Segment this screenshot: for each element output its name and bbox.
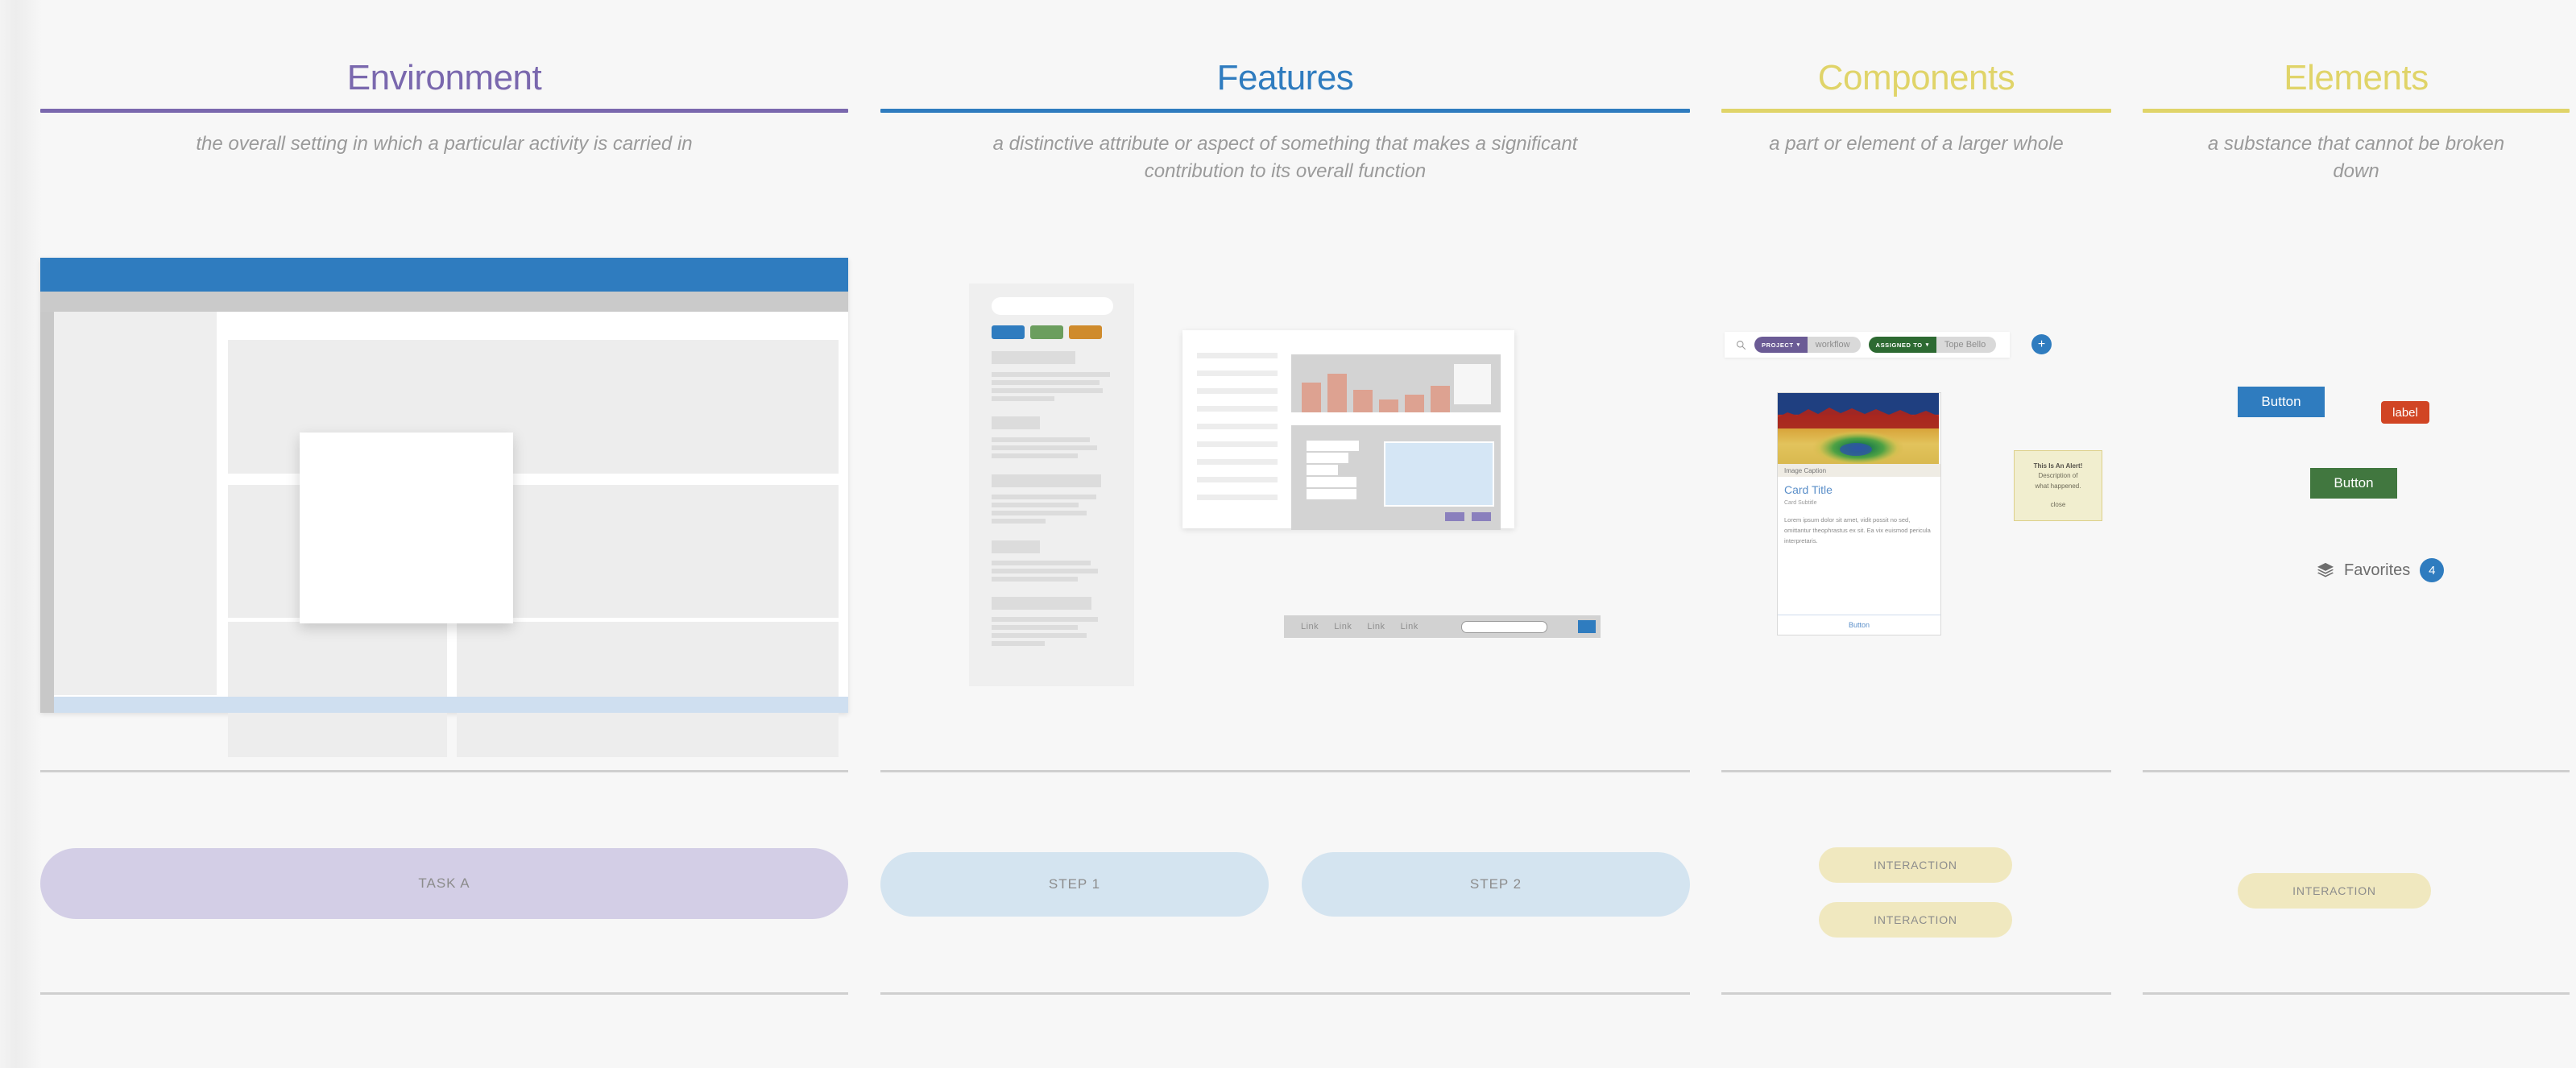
mock-modal-dialog (300, 433, 513, 623)
mock-column-right (457, 622, 839, 757)
column-rule (1721, 109, 2111, 113)
page-left-edge-shadow (0, 0, 42, 1068)
alert-line-1: Description of (2015, 471, 2102, 481)
mock-tab-1[interactable] (992, 325, 1025, 339)
mock-text-block (992, 540, 1040, 553)
column-title: Features (880, 60, 1690, 96)
section-divider (1721, 992, 2111, 995)
section-divider (40, 992, 848, 995)
favorites-count-badge: 4 (2420, 558, 2444, 582)
browser-content-area (54, 312, 848, 713)
mock-tab-3[interactable] (1069, 325, 1102, 339)
column-title: Environment (40, 60, 848, 96)
interaction-pill[interactable]: INTERACTION (1819, 847, 2012, 883)
mock-heading-bar (992, 597, 1091, 610)
dashboard-mockup (1182, 330, 1514, 528)
mock-column-left (228, 622, 447, 757)
mock-paragraph (992, 495, 1096, 527)
mock-footer-bar (54, 697, 848, 713)
filter-chip-key-label: ASSIGNED TO (1876, 342, 1923, 349)
link-item[interactable]: Link (1301, 622, 1319, 631)
filter-chip-project[interactable]: PROJECT ▾ workflow (1754, 337, 1861, 353)
card-subtitle: Card Subtitle (1784, 500, 1816, 506)
mock-bar (1302, 383, 1321, 412)
mock-search-field[interactable] (992, 297, 1113, 315)
toolbar-search-input[interactable] (1461, 621, 1547, 633)
mock-text-block (992, 597, 1091, 610)
favorites-label: Favorites (2344, 561, 2410, 580)
column-rule (2143, 109, 2570, 113)
mock-text-block (992, 416, 1040, 429)
interaction-pill[interactable]: INTERACTION (1819, 902, 2012, 938)
mock-nav-list (1197, 353, 1278, 512)
article-page-mockup (969, 284, 1134, 686)
interaction-pill[interactable]: INTERACTION (2238, 873, 2431, 909)
card-title: Card Title (1784, 483, 1833, 496)
mock-sidebar (54, 312, 217, 695)
mock-heading-bar (992, 540, 1040, 553)
browser-toolbar (40, 292, 848, 312)
filter-chip-assigned-to[interactable]: ASSIGNED TO ▾ Tope Bello (1869, 337, 1997, 353)
mock-chart-panel (1291, 354, 1501, 412)
alert-close-link[interactable]: close (2015, 500, 2102, 510)
alert-line-2: what happened. (2015, 482, 2102, 491)
card-body-text: Lorem ipsum dolor sit amet, vidit possit… (1784, 515, 1934, 546)
alert-box: This Is An Alert! Description of what ha… (2014, 450, 2102, 521)
mock-bar (1431, 386, 1450, 412)
layers-icon (2317, 562, 2334, 578)
mock-bar (1327, 374, 1347, 412)
card-image (1778, 393, 1940, 464)
link-list: Link Link Link Link (1301, 622, 1418, 631)
browser-window-mockup (40, 258, 848, 713)
column-title: Components (1721, 60, 2111, 96)
primary-button[interactable]: Button (2238, 387, 2325, 417)
column-components: Components a part or element of a larger… (1721, 60, 2111, 158)
card-action-button[interactable]: Button (1778, 615, 1940, 635)
mock-heading-bar (992, 416, 1040, 429)
section-divider (880, 992, 1690, 995)
step-pill-1[interactable]: STEP 1 (880, 852, 1269, 917)
mock-form-panel (1291, 425, 1501, 530)
column-subtitle: a part or element of a larger whole (1721, 130, 2111, 158)
chevron-down-icon[interactable]: ▾ (1797, 342, 1800, 348)
section-divider (1721, 770, 2111, 772)
mock-bar (1353, 390, 1373, 412)
filter-chip-value[interactable]: workflow (1808, 337, 1861, 353)
mock-bar-chart (1302, 361, 1450, 412)
mock-bar (1405, 395, 1424, 412)
mock-input[interactable] (1307, 441, 1359, 451)
mock-kpi-tile (1454, 364, 1491, 404)
column-rule (40, 109, 848, 113)
poster-canvas: Environment the overall setting in which… (0, 0, 2576, 1068)
browser-left-rail (40, 312, 54, 713)
favorites-item[interactable]: Favorites 4 (2317, 558, 2444, 582)
section-divider (2143, 992, 2570, 995)
mock-action-button[interactable] (1445, 512, 1464, 521)
column-subtitle: a substance that cannot be broken down (2143, 130, 2570, 185)
column-features: Features a distinctive attribute or aspe… (880, 60, 1690, 185)
search-icon[interactable] (1736, 340, 1746, 350)
mock-text-block (992, 474, 1101, 487)
mock-heading-bar (992, 474, 1101, 487)
card-image-caption: Image Caption (1778, 464, 1940, 477)
mock-input[interactable] (1307, 465, 1338, 475)
section-divider (2143, 770, 2570, 772)
column-elements: Elements a substance that cannot be brok… (2143, 60, 2570, 185)
toolbar-submit-button[interactable] (1578, 620, 1596, 633)
mock-paragraph (992, 372, 1112, 404)
section-divider (40, 770, 848, 772)
mock-tab-2[interactable] (1030, 325, 1063, 339)
mock-text-block (992, 351, 1075, 364)
chevron-down-icon[interactable]: ▾ (1926, 342, 1929, 348)
link-item[interactable]: Link (1401, 622, 1418, 631)
mock-paragraph (992, 437, 1097, 462)
mock-paragraph (992, 561, 1098, 585)
filter-chip-key-label: PROJECT (1762, 342, 1794, 349)
filter-chip-value[interactable]: Tope Bello (1936, 337, 1996, 353)
mock-input[interactable] (1307, 477, 1356, 487)
filter-chip-key[interactable]: ASSIGNED TO ▾ (1869, 337, 1936, 353)
task-pill-a[interactable]: TASK A (40, 848, 848, 919)
mock-input[interactable] (1307, 453, 1348, 463)
link-toolbar-mockup: Link Link Link Link (1284, 615, 1601, 638)
link-item[interactable]: Link (1367, 622, 1385, 631)
column-environment: Environment the overall setting in which… (40, 60, 848, 158)
step-pill-2[interactable]: STEP 2 (1302, 852, 1690, 917)
mock-action-button[interactable] (1472, 512, 1491, 521)
column-subtitle: the overall setting in which a particula… (40, 130, 848, 158)
mock-input[interactable] (1307, 489, 1356, 499)
mock-paragraph (992, 617, 1098, 649)
link-item[interactable]: Link (1334, 622, 1352, 631)
column-subtitle: a distinctive attribute or aspect of som… (880, 130, 1690, 185)
column-rule (880, 109, 1690, 113)
mock-preview-pane (1384, 441, 1494, 507)
mock-tab-row (992, 325, 1102, 339)
add-filter-button[interactable]: + (2031, 334, 2052, 354)
filter-bar: PROJECT ▾ workflow ASSIGNED TO ▾ Tope Be… (1725, 332, 2010, 358)
alert-title: This Is An Alert! (2015, 462, 2102, 471)
danger-label-badge: label (2381, 401, 2429, 424)
success-button[interactable]: Button (2310, 468, 2397, 499)
section-divider (880, 770, 1690, 772)
mock-bar (1379, 399, 1398, 412)
mock-heading-bar (992, 351, 1075, 364)
browser-titlebar (40, 258, 848, 292)
column-title: Elements (2143, 60, 2570, 96)
filter-chip-key[interactable]: PROJECT ▾ (1754, 337, 1808, 353)
content-card: Image Caption Card Title Card Subtitle L… (1777, 392, 1941, 635)
